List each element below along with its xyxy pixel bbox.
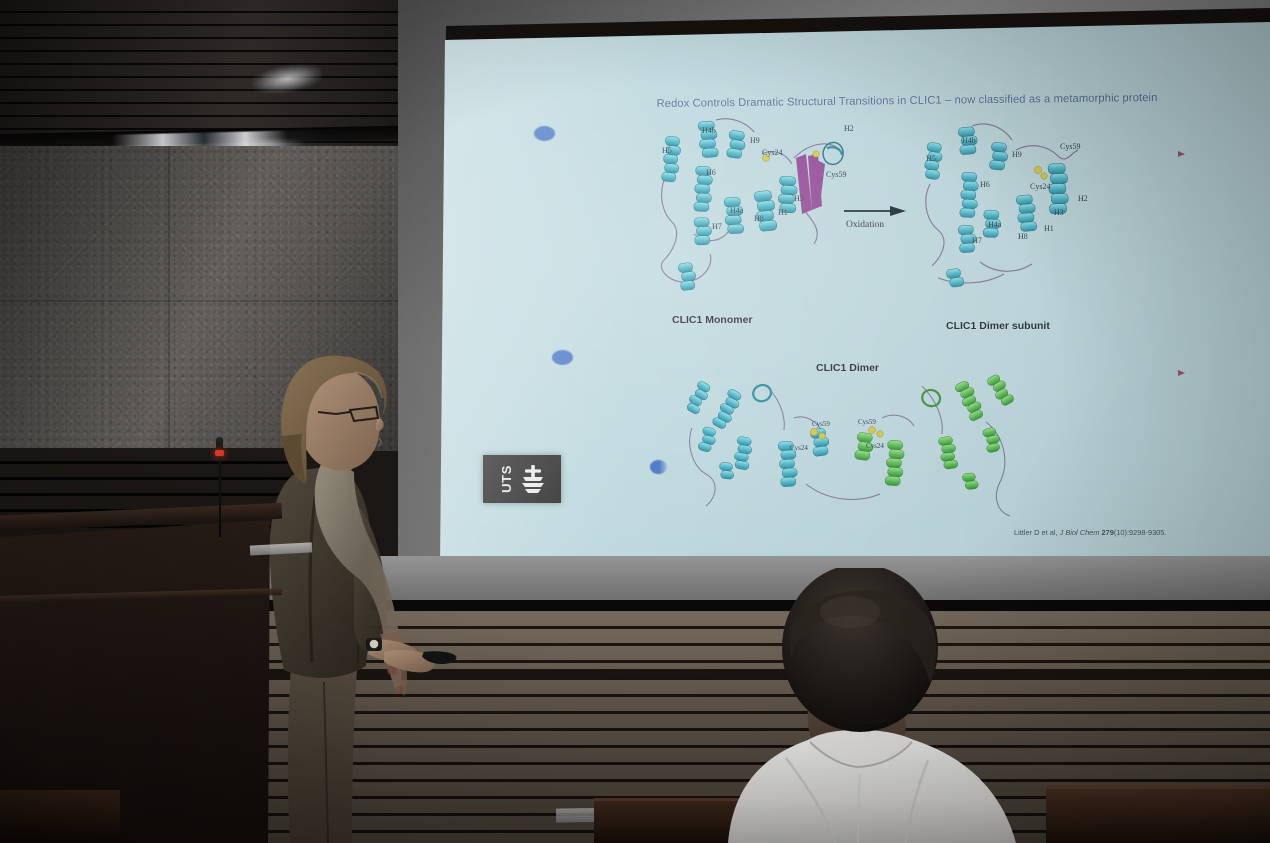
dimer-caption: CLIC1 Dimer: [816, 362, 879, 374]
slide-title: Redox Controls Dramatic Structural Trans…: [622, 91, 1192, 112]
uts-logo-text: UTS: [499, 465, 514, 493]
decorative-blue-dot: [534, 126, 555, 141]
oxidation-transition-group: Oxidation: [844, 200, 914, 240]
dimer-subunit-caption: CLIC1 Dimer subunit: [946, 320, 1050, 332]
oxidation-label: Oxidation: [846, 220, 884, 230]
presenter-figure: [258, 352, 458, 843]
microphone-stem: [219, 451, 221, 537]
oxidation-arrow-icon: [844, 206, 906, 216]
citation-journal: J Biol Chem: [1060, 528, 1100, 537]
uts-logo: UTS: [483, 455, 561, 503]
plaster-seam-vertical: [168, 146, 170, 451]
clic1-dimer-figure: [686, 374, 1016, 524]
slide-citation: Littler D et al, J Biol Chem 279(10):929…: [1014, 528, 1166, 537]
presentation-slide: Redox Controls Dramatic Structural Trans…: [438, 22, 1270, 612]
lecture-hall-scene: Redox Controls Dramatic Structural Trans…: [0, 0, 1270, 843]
monomer-caption: CLIC1 Monomer: [672, 314, 753, 326]
gooseneck-microphone[interactable]: [212, 437, 228, 537]
decorative-blue-dot: [552, 350, 573, 365]
microphone-status-led: [215, 450, 224, 456]
plaster-seam-horizontal: [0, 300, 436, 302]
decorative-blue-dot: [650, 460, 667, 474]
citation-pages: (10):9298-9305.: [1114, 528, 1167, 537]
audience-member-figure: [700, 568, 1100, 843]
uts-crest-icon: [520, 464, 546, 494]
clic1-dimer-subunit-figure: [920, 114, 1108, 314]
citation-authors: Littler D et al,: [1014, 528, 1058, 537]
chair-foreground-left: [0, 790, 120, 843]
projection-screen[interactable]: Redox Controls Dramatic Structural Trans…: [438, 22, 1270, 612]
red-triangle-marker: [1178, 370, 1185, 376]
red-triangle-marker: [1178, 151, 1185, 157]
clic1-monomer-figure: [654, 114, 854, 314]
citation-volume: 279: [1102, 528, 1114, 537]
